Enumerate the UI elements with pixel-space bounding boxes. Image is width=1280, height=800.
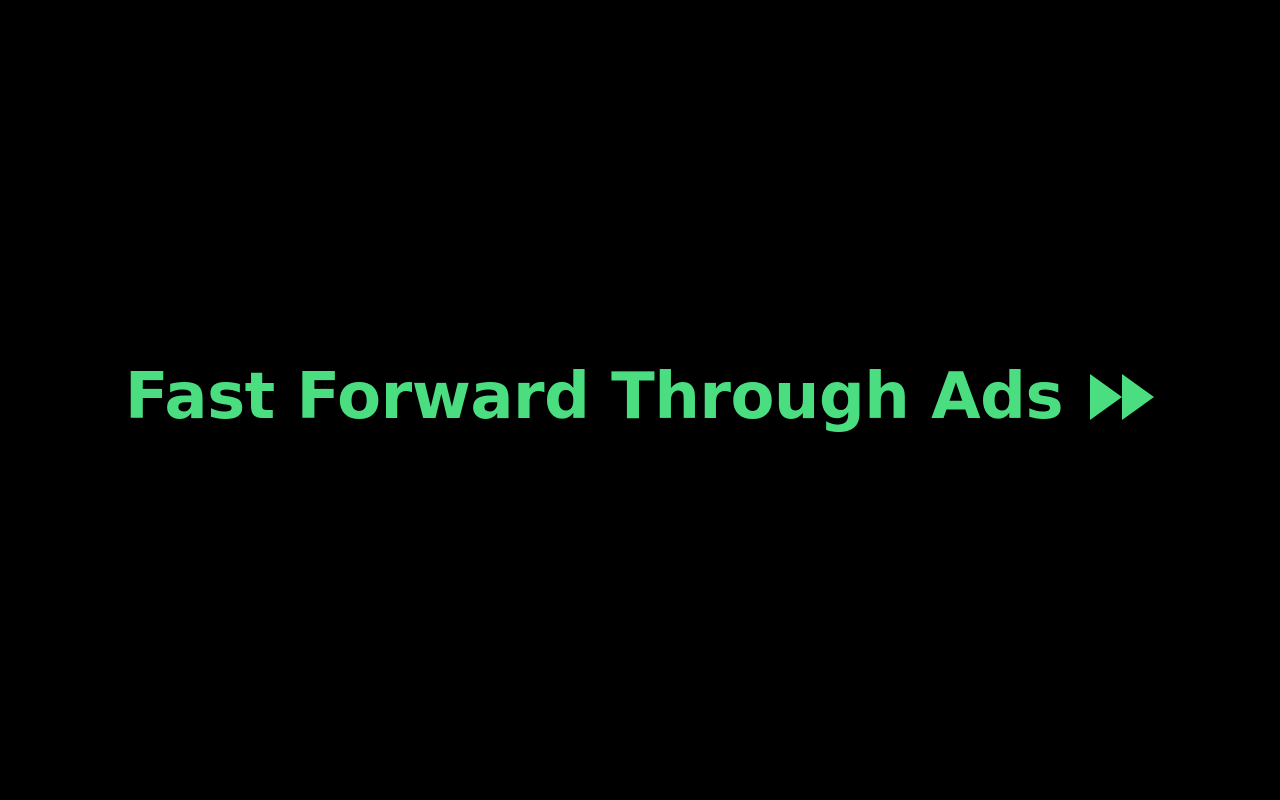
fast-forward-icon bbox=[1089, 373, 1155, 421]
slide-canvas: Fast Forward Through Ads bbox=[0, 0, 1280, 800]
page-title: Fast Forward Through Ads bbox=[125, 365, 1063, 429]
headline-banner: Fast Forward Through Ads bbox=[0, 365, 1280, 429]
